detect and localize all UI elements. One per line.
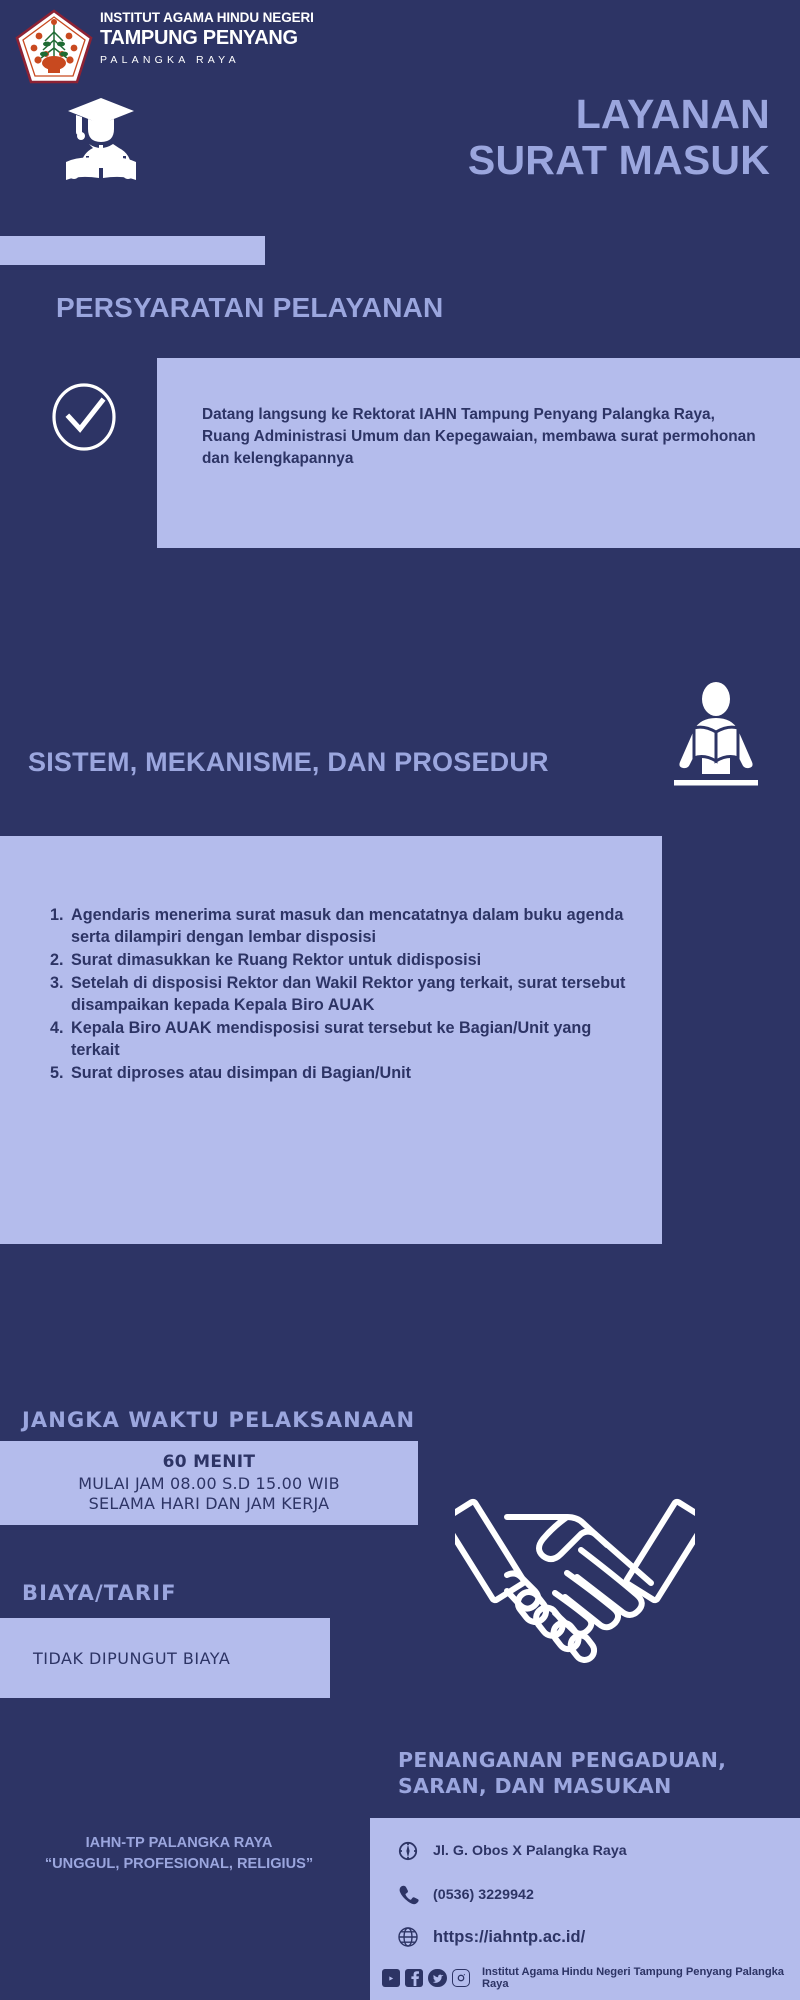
- duration-panel: 60 MENIT MULAI JAM 08.00 S.D 15.00 WIB S…: [0, 1441, 418, 1525]
- complaints-heading: PENANGANAN PENGADUAN, SARAN, DAN MASUKAN: [398, 1748, 778, 1799]
- accent-bar: [0, 236, 265, 265]
- contact-website: https://iahntp.ac.id/: [433, 1928, 585, 1947]
- tagline-line1: IAHN-TP PALANGKA RAYA: [18, 1833, 340, 1854]
- procedure-heading: SISTEM, MEKANISME, DAN PROSEDUR: [28, 747, 549, 778]
- institution-line1: INSTITUT AGAMA HINDU NEGERI: [100, 11, 314, 25]
- institution-tagline: IAHN-TP PALANGKA RAYA “UNGGUL, PROFESION…: [18, 1833, 340, 1874]
- youtube-icon[interactable]: [382, 1969, 400, 1987]
- contact-panel: Jl. G. Obos X Palangka Raya (0536) 32299…: [370, 1818, 800, 2000]
- contact-phone: (0536) 3229942: [433, 1887, 534, 1903]
- page-title-line1: LAYANAN: [576, 91, 770, 137]
- contact-phone-row[interactable]: (0536) 3229942: [395, 1882, 534, 1908]
- complaints-heading-line1: PENANGANAN PENGADUAN,: [398, 1748, 778, 1774]
- institution-line2: TAMPUNG PENYANG: [100, 27, 314, 49]
- contact-address-row: Jl. G. Obos X Palangka Raya: [395, 1838, 627, 1864]
- list-item: Agendaris menerima surat masuk dan menca…: [68, 904, 629, 948]
- tagline-line2: “UNGGUL, PROFESIONAL, RELIGIUS”: [18, 1854, 340, 1875]
- duration-detail-line2: SELAMA HARI DAN JAM KERJA: [89, 1494, 330, 1514]
- twitter-icon[interactable]: [428, 1969, 446, 1987]
- duration-heading: JANGKA WAKTU PELAKSANAAN: [22, 1408, 415, 1432]
- instagram-icon[interactable]: [452, 1969, 470, 1987]
- infographic-page: INSTITUT AGAMA HINDU NEGERI TAMPUNG PENY…: [0, 0, 800, 2000]
- contact-website-row[interactable]: https://iahntp.ac.id/: [395, 1924, 585, 1950]
- cost-panel: TIDAK DIPUNGUT BIAYA: [0, 1618, 330, 1698]
- list-item: Surat dimasukkan ke Ruang Rektor untuk d…: [68, 949, 629, 971]
- iahn-pentagon-logo-icon: [14, 8, 94, 86]
- requirements-heading: PERSYARATAN PELAYANAN: [56, 292, 443, 324]
- complaints-heading-line2: SARAN, DAN MASUKAN: [398, 1774, 778, 1800]
- procedure-panel: Agendaris menerima surat masuk dan menca…: [0, 836, 662, 1244]
- check-circle-icon: [50, 382, 118, 452]
- contact-address: Jl. G. Obos X Palangka Raya: [433, 1843, 627, 1859]
- list-item: Kepala Biro AUAK mendisposisi surat ters…: [68, 1017, 629, 1061]
- handshake-icon: [455, 1455, 695, 1665]
- requirements-text: Datang langsung ke Rektorat IAHN Tampung…: [202, 404, 762, 470]
- list-item: Surat diproses atau disimpan di Bagian/U…: [68, 1062, 629, 1084]
- cost-value: TIDAK DIPUNGUT BIAYA: [33, 1649, 230, 1668]
- requirements-panel: Datang langsung ke Rektorat IAHN Tampung…: [157, 358, 800, 548]
- institution-name-block: INSTITUT AGAMA HINDU NEGERI TAMPUNG PENY…: [100, 11, 314, 66]
- duration-value: 60 MENIT: [163, 1451, 256, 1473]
- page-title: LAYANAN SURAT MASUK: [130, 92, 770, 184]
- procedure-list: Agendaris menerima surat masuk dan menca…: [44, 904, 629, 1085]
- phone-icon: [395, 1882, 421, 1908]
- duration-detail-line1: MULAI JAM 08.00 S.D 15.00 WIB: [78, 1474, 340, 1494]
- facebook-icon[interactable]: [405, 1969, 423, 1987]
- list-item: Setelah di disposisi Rektor dan Wakil Re…: [68, 972, 629, 1016]
- cost-heading: BIAYA/TARIF: [22, 1581, 177, 1605]
- globe-icon: [395, 1924, 421, 1950]
- social-row: Institut Agama Hindu Negeri Tampung Peny…: [382, 1966, 800, 1990]
- page-title-line2: SURAT MASUK: [130, 138, 770, 184]
- social-handle: Institut Agama Hindu Negeri Tampung Peny…: [482, 1966, 800, 1990]
- location-compass-icon: [395, 1838, 421, 1864]
- institution-line3: PALANGKA RAYA: [100, 54, 314, 66]
- person-reading-book-icon: [664, 682, 768, 790]
